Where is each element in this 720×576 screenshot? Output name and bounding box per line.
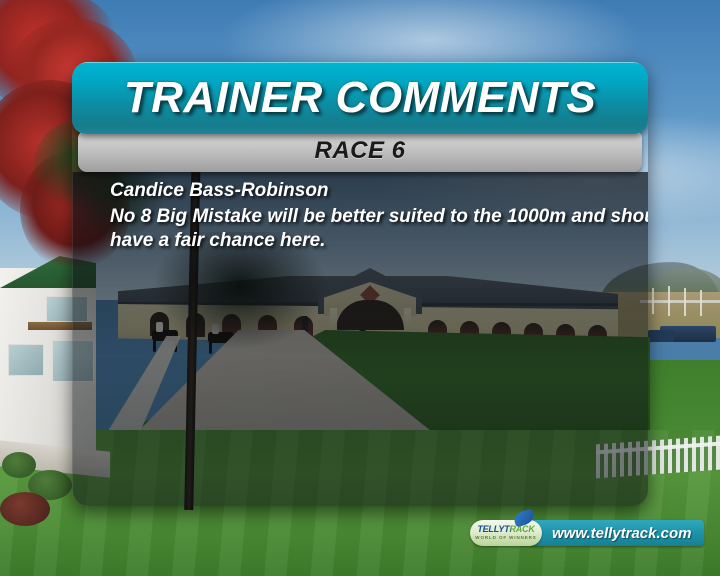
race-subheader-bar: RACE 6 <box>78 130 642 172</box>
tellytrack-logo-text: TELLYTRACK <box>477 525 534 534</box>
house-window <box>8 344 44 376</box>
channel-watermark: TELLYTRACK WORLD OF WINNERS www.tellytra… <box>470 519 704 547</box>
rail-post <box>668 286 670 316</box>
comment-line-2: have a fair chance here. <box>110 229 620 253</box>
broadcast-graphic-screen: RACE 6 TRAINER COMMENTS Candice Bass-Rob… <box>0 0 720 576</box>
trainer-name: Candice Bass-Robinson <box>110 180 620 202</box>
trainer-comments-panel: RACE 6 TRAINER COMMENTS Candice Bass-Rob… <box>72 62 648 506</box>
race-number-label: RACE 6 <box>314 137 405 165</box>
tellytrack-logo-tagline: WORLD OF WINNERS <box>475 536 536 541</box>
website-url-text: www.tellytrack.com <box>552 525 692 542</box>
parked-vehicle-secondary <box>648 330 674 342</box>
shrub-red <box>0 492 50 526</box>
panel-header-bar: TRAINER COMMENTS <box>72 62 648 134</box>
rail-post <box>652 288 654 314</box>
comment-line-1: No 8 Big Mistake will be better suited t… <box>110 205 620 229</box>
website-url-bar: www.tellytrack.com <box>530 520 704 546</box>
rail-post <box>684 288 686 316</box>
shrub <box>2 452 36 478</box>
tellytrack-logo: TELLYTRACK WORLD OF WINNERS <box>470 520 542 546</box>
rail-post <box>700 290 702 316</box>
page-title: TRAINER COMMENTS <box>124 73 596 123</box>
trainer-comment-block: Candice Bass-Robinson No 8 Big Mistake w… <box>110 180 620 254</box>
